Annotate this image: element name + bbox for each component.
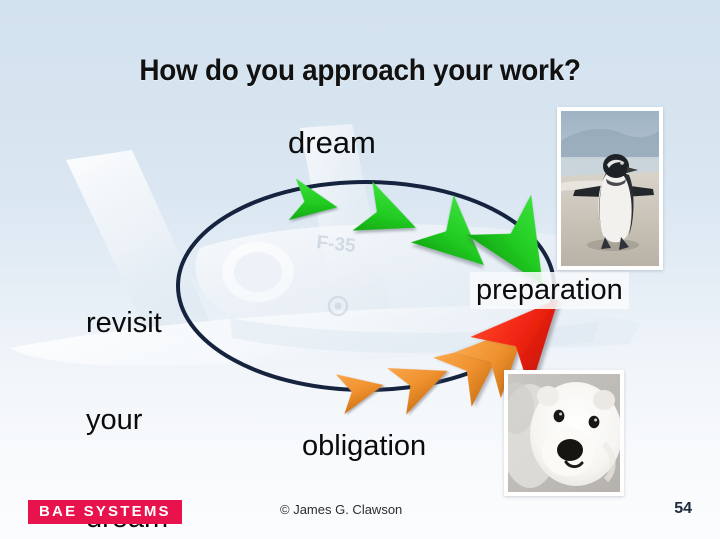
label-revisit-your-dream: revisit your dream bbox=[86, 242, 168, 539]
polar-bear-illustration bbox=[508, 374, 620, 492]
slide-title: How do you approach your work? bbox=[25, 54, 695, 88]
penguin-illustration bbox=[561, 111, 659, 266]
label-obligation: obligation bbox=[302, 430, 426, 462]
penguin-photo bbox=[557, 107, 663, 270]
polar-bear-photo bbox=[504, 370, 624, 496]
label-revisit-line-1: revisit bbox=[86, 307, 168, 339]
label-revisit-line-2: your bbox=[86, 404, 168, 436]
slide-canvas: F-35 bbox=[0, 0, 720, 539]
page-number: 54 bbox=[674, 500, 692, 518]
label-preparation: preparation bbox=[470, 272, 629, 309]
bae-systems-logo: BAE SYSTEMS bbox=[28, 500, 182, 524]
copyright-text: © James G. Clawson bbox=[280, 502, 402, 517]
label-dream: dream bbox=[288, 126, 376, 161]
